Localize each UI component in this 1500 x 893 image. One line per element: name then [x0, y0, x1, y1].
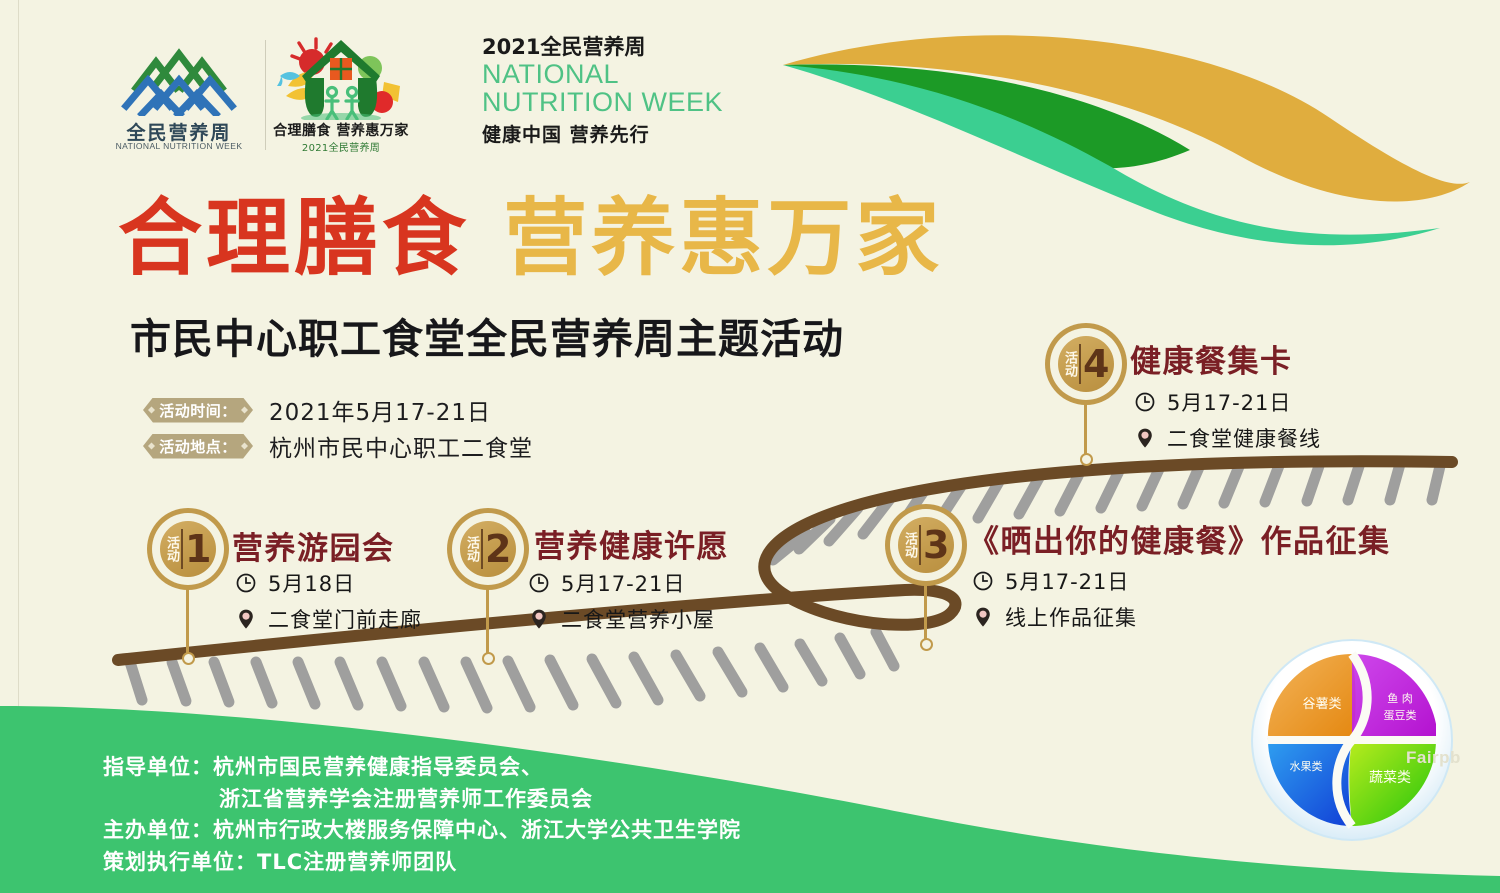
poster-canvas: 全民营养周 NATIONAL NUTRITION WEEK	[0, 0, 1500, 893]
activity-date-2-text: 5月17-21日	[561, 568, 685, 598]
map-pin-icon	[1134, 427, 1156, 449]
plate-label-vegetable: 蔬菜类	[1369, 770, 1411, 786]
ornament-left-icon	[148, 443, 155, 450]
activity-badge-1-keyword: 活动	[165, 536, 179, 562]
activity-place-2-text: 二食堂营养小屋	[561, 604, 715, 634]
activity-badge-4-keyword: 活动	[1063, 351, 1077, 377]
activity-place-3-text: 线上作品征集	[1005, 602, 1137, 632]
activity-node-3[interactable]: 活动 3	[890, 509, 962, 581]
activity-place-4-text: 二食堂健康餐线	[1167, 423, 1321, 453]
event-meta: 活动时间： 2021年5月17-21日 活动地点： 杭州市民中心职工二食堂	[143, 392, 533, 464]
activity-badge-1-separator	[181, 529, 183, 569]
logo-house-cn: 合理膳食 营养惠万家	[272, 120, 410, 140]
map-pin-icon	[972, 606, 994, 628]
activity-place-4: 二食堂健康餐线	[1134, 423, 1321, 453]
activity-title-2[interactable]: 营养健康许愿	[534, 521, 729, 566]
activity-place-3: 线上作品征集	[972, 602, 1137, 632]
credit-line-1: 指导单位：杭州市国民营养健康指导委员会、	[103, 752, 1003, 784]
map-pin-icon	[235, 608, 257, 630]
clock-icon	[1134, 391, 1156, 413]
activity-title-1[interactable]: 营养游园会	[232, 523, 395, 568]
activity-stem-dot-2	[482, 652, 495, 665]
wordmark-slogan: 健康中国 营养先行	[482, 120, 802, 147]
balanced-plate-diagram: 谷薯类 鱼 肉 蛋豆类 蔬菜类 水果类	[1248, 636, 1456, 844]
activity-badge-1-number: 1	[185, 530, 211, 568]
meta-label-time: 活动时间：	[143, 398, 253, 423]
meta-row-time: 活动时间： 2021年5月17-21日	[143, 392, 533, 428]
credit-line-3: 主办单位：杭州市行政大楼服务保障中心、浙江大学公共卫生学院	[103, 815, 1003, 847]
activity-badge-4-number: 4	[1083, 345, 1109, 383]
header-logos: 全民营养周 NATIONAL NUTRITION WEEK	[0, 0, 1500, 180]
activity-place-1: 二食堂门前走廊	[235, 604, 422, 634]
activity-date-1: 5月18日	[235, 568, 355, 598]
activity-stem-dot-3	[920, 638, 933, 651]
wordmark-year: 2021全民营养周	[482, 36, 802, 60]
activity-node-2[interactable]: 活动 2	[452, 513, 524, 585]
activity-date-4-text: 5月17-21日	[1167, 387, 1291, 417]
activity-badge-2: 活动 2	[452, 513, 524, 585]
wordmark-en-line2: NUTRITION WEEK	[482, 88, 802, 116]
activity-place-1-text: 二食堂门前走廊	[268, 604, 422, 634]
activity-title-3[interactable]: 《晒出你的健康餐》作品征集	[968, 516, 1391, 561]
meta-label-place-text: 活动地点：	[159, 436, 237, 457]
map-pin-icon	[528, 608, 550, 630]
activity-badge-4: 活动 4	[1050, 328, 1122, 400]
logo-house-sub: 2021全民营养周	[272, 139, 410, 154]
ornament-right-icon	[241, 407, 248, 414]
clock-icon	[528, 572, 550, 594]
activity-badge-3-separator	[919, 525, 921, 565]
meta-label-place: 活动地点：	[143, 434, 253, 459]
credit-line-2: 浙江省营养学会注册营养师工作委员会	[103, 784, 1003, 816]
activity-date-4: 5月17-21日	[1134, 387, 1291, 417]
meta-value-time: 2021年5月17-21日	[269, 393, 491, 427]
plate-label-grain: 谷薯类	[1302, 697, 1341, 712]
title-part-red: 合理膳食	[118, 189, 470, 287]
plate-label-protein-line1: 鱼 肉	[1387, 691, 1413, 705]
plate-label-fruit: 水果类	[1290, 759, 1323, 773]
activity-badge-1: 活动 1	[152, 513, 224, 585]
activity-stem-1	[186, 585, 189, 657]
header-wordmark: 2021全民营养周 NATIONAL NUTRITION WEEK 健康中国 营…	[482, 36, 802, 147]
plate-label-protein-line2: 蛋豆类	[1384, 708, 1417, 722]
logo-divider	[265, 40, 266, 150]
activity-badge-1-inner: 活动 1	[160, 521, 216, 577]
activity-stem-dot-4	[1080, 453, 1093, 466]
meta-label-time-text: 活动时间：	[159, 400, 237, 421]
pyramid-mountains-icon	[104, 44, 254, 116]
activity-badge-3-number: 3	[923, 526, 949, 564]
clock-icon	[235, 572, 257, 594]
activity-node-1[interactable]: 活动 1	[152, 513, 224, 585]
meta-value-place: 杭州市民中心职工二食堂	[269, 429, 533, 463]
wordmark-en-line1: NATIONAL	[482, 60, 802, 88]
activity-badge-3-keyword: 活动	[903, 532, 917, 558]
activity-badge-4-separator	[1079, 344, 1081, 384]
credit-line-4: 策划执行单位：TLC注册营养师团队	[103, 847, 1003, 879]
logo-national-nutrition-week: 全民营养周 NATIONAL NUTRITION WEEK	[104, 44, 254, 162]
activity-badge-4-inner: 活动 4	[1058, 336, 1114, 392]
activity-date-3-text: 5月17-21日	[1005, 566, 1129, 596]
activity-stem-4	[1084, 400, 1087, 458]
ornament-right-icon	[241, 443, 248, 450]
activity-badge-2-inner: 活动 2	[460, 521, 516, 577]
logo-balanced-diet: 合理膳食 营养惠万家 2021全民营养周	[272, 36, 410, 162]
activity-badge-3: 活动 3	[890, 509, 962, 581]
ornament-left-icon	[148, 407, 155, 414]
activity-title-4[interactable]: 健康餐集卡	[1130, 336, 1293, 381]
activity-date-3: 5月17-21日	[972, 566, 1129, 596]
activity-badge-2-separator	[481, 529, 483, 569]
activity-badge-2-keyword: 活动	[465, 536, 479, 562]
title-part-gold: 营养惠万家	[503, 189, 943, 287]
logo-pyramid-en: NATIONAL NUTRITION WEEK	[104, 141, 254, 151]
page-title: 合理膳食 营养惠万家	[118, 196, 943, 280]
page-subtitle: 市民中心职工食堂全民营养周主题活动	[130, 305, 844, 365]
activity-stem-3	[924, 581, 927, 643]
activity-stem-2	[486, 585, 489, 657]
activity-stem-dot-1	[182, 652, 195, 665]
house-family-food-icon	[272, 36, 410, 120]
activity-node-4[interactable]: 活动 4	[1050, 328, 1122, 400]
activity-date-1-text: 5月18日	[268, 568, 355, 598]
activity-date-2: 5月17-21日	[528, 568, 685, 598]
activity-badge-3-inner: 活动 3	[898, 517, 954, 573]
watermark: Fairpb	[1406, 748, 1461, 768]
meta-row-place: 活动地点： 杭州市民中心职工二食堂	[143, 428, 533, 464]
clock-icon	[972, 570, 994, 592]
activity-place-2: 二食堂营养小屋	[528, 604, 715, 634]
activity-badge-2-number: 2	[485, 530, 511, 568]
credits-block: 指导单位：杭州市国民营养健康指导委员会、 浙江省营养学会注册营养师工作委员会 主…	[103, 752, 1003, 878]
